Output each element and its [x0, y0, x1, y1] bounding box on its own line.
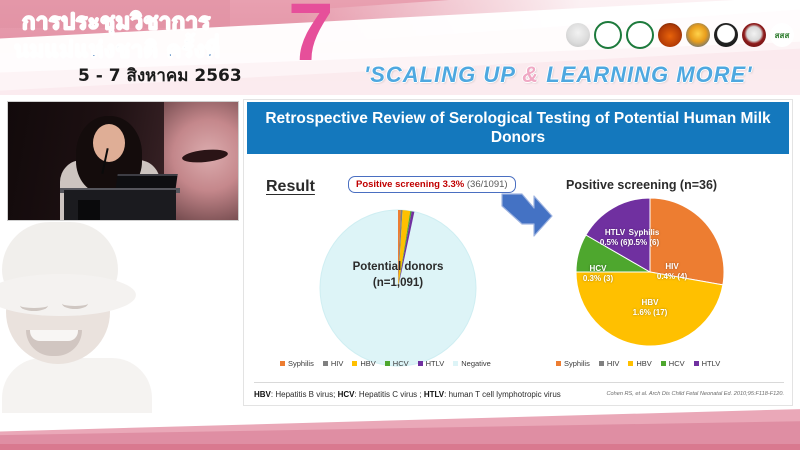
left-pie-caption: Potential donors (n=1,091): [314, 260, 482, 291]
legend-swatch-hbv-right: [628, 361, 633, 366]
pie-label-htlv: HTLV 0.5% (6): [588, 228, 642, 248]
legend-label-negative: Negative: [461, 359, 491, 368]
legend-label-hcv-right: HCV: [669, 359, 685, 368]
legend-label-hcv: HCV: [393, 359, 409, 368]
logo-red-seal-icon: [742, 23, 766, 47]
footer-band-edge: [0, 444, 800, 450]
legend-item-hiv: HIV: [323, 359, 344, 368]
slide-title: Retrospective Review of Serological Test…: [247, 102, 789, 154]
legend-swatch-negative: [453, 361, 458, 366]
logo-ministry-public-health-2-icon: [626, 21, 654, 49]
legend-item-htlv: HTLV: [418, 359, 445, 368]
legend-swatch-syphilis-right: [556, 361, 561, 366]
legend-item-hcv: HCV: [385, 359, 409, 368]
presentation-slide: Retrospective Review of Serological Test…: [244, 100, 792, 405]
logo-sss-icon: สสส: [770, 23, 794, 47]
conference-date-thai: 5 - 7 สิงหาคม 2563: [78, 62, 242, 89]
logo-royal-emblem-icon: [566, 23, 590, 47]
left-pie-caption-line2: (n=1,091): [314, 276, 482, 292]
legend-swatch-hcv-right: [661, 361, 666, 366]
legend-swatch-hiv-right: [599, 361, 604, 366]
sponsor-logo-row: สสส: [566, 21, 794, 49]
conference-tagline: 'SCALING UP & LEARNING MORE': [364, 62, 752, 88]
legend-label-hiv-right: HIV: [607, 359, 620, 368]
baby-eye-left: [20, 300, 48, 311]
legend-item-hbv-right: HBV: [628, 359, 651, 368]
legend-swatch-htlv: [418, 361, 423, 366]
conference-header-banner: การประชุมวิชาการ นมแม่แห่งชาติ ครั้งที่ …: [0, 0, 800, 95]
legend-item-hbv: HBV: [352, 359, 375, 368]
left-pie-legend: Syphilis HIV HBV HCV HTLV Negative: [280, 359, 491, 368]
pie-label-htlv-name: HTLV: [588, 228, 642, 238]
conference-edition-number: 7: [288, 0, 334, 74]
legend-swatch-syphilis: [280, 361, 285, 366]
pie-label-hiv-name: HIV: [644, 262, 700, 272]
tagline-part1: 'SCALING UP: [364, 62, 522, 87]
pie-label-hbv-value: 1.6% (17): [622, 308, 678, 318]
pie-label-hbv-name: HBV: [622, 298, 678, 308]
baby-eye-right: [62, 298, 88, 309]
logo-ministry-public-health-1-icon: [594, 21, 622, 49]
legend-label-syphilis-right: Syphilis: [564, 359, 590, 368]
legend-item-syphilis: Syphilis: [280, 359, 314, 368]
tagline-ampersand: &: [522, 62, 539, 87]
legend-swatch-htlv-right: [694, 361, 699, 366]
legend-item-htlv-right: HTLV: [694, 359, 721, 368]
citation-reference: Cohen RS, et al. Arch Dis Child Fetal Ne…: [606, 391, 784, 397]
speaker-face: [93, 124, 125, 162]
left-pie-caption-line1: Potential donors: [314, 260, 482, 276]
legend-item-negative: Negative: [453, 359, 491, 368]
screenshot-root: การประชุมวิชาการ นมแม่แห่งชาติ ครั้งที่ …: [0, 0, 800, 450]
callout-sub-text: (36/1091): [467, 179, 508, 190]
callout-highlight-text: Positive screening 3.3%: [356, 179, 464, 190]
positive-screening-callout: Positive screening 3.3% (36/1091): [348, 176, 516, 193]
legend-label-hbv: HBV: [360, 359, 375, 368]
legend-label-hbv-right: HBV: [636, 359, 651, 368]
pie-label-hcv-name: HCV: [574, 264, 622, 274]
tagline-part2: LEARNING MORE': [539, 62, 752, 87]
baby-watermark-image: [0, 218, 160, 413]
speaker-video-thumbnail[interactable]: [8, 102, 238, 220]
legend-swatch-hiv: [323, 361, 328, 366]
podium-panel: [78, 200, 100, 220]
transition-arrow-icon: [500, 192, 554, 240]
pie-label-hiv: HIV 0.4% (4): [644, 262, 700, 282]
legend-item-syphilis-right: Syphilis: [556, 359, 590, 368]
logo-royal-crest-icon: [686, 23, 710, 47]
right-pie-legend: Syphilis HIV HBV HCV HTLV: [556, 359, 720, 368]
result-heading: Result: [266, 178, 315, 196]
legend-swatch-hcv: [385, 361, 390, 366]
right-pie-title: Positive screening (n=36): [566, 178, 717, 192]
pie-label-hcv: HCV 0.3% (3): [574, 264, 622, 284]
pie-label-htlv-value: 0.5% (6): [588, 238, 642, 248]
legend-label-hiv: HIV: [331, 359, 344, 368]
legend-swatch-hbv: [352, 361, 357, 366]
pie-label-hiv-value: 0.4% (4): [644, 272, 700, 282]
logo-orange-seal-icon: [658, 23, 682, 47]
logo-black-seal-icon: [714, 23, 738, 47]
baby-hat-brim: [0, 274, 136, 316]
baby-teeth: [30, 330, 78, 341]
legend-label-syphilis: Syphilis: [288, 359, 314, 368]
pie-label-hbv: HBV 1.6% (17): [622, 298, 678, 318]
legend-item-hcv-right: HCV: [661, 359, 685, 368]
legend-label-htlv-right: HTLV: [702, 359, 721, 368]
legend-label-htlv: HTLV: [426, 359, 445, 368]
footer-pink-bands: [0, 398, 800, 450]
legend-item-hiv-right: HIV: [599, 359, 620, 368]
pie-label-hcv-value: 0.3% (3): [574, 274, 622, 284]
